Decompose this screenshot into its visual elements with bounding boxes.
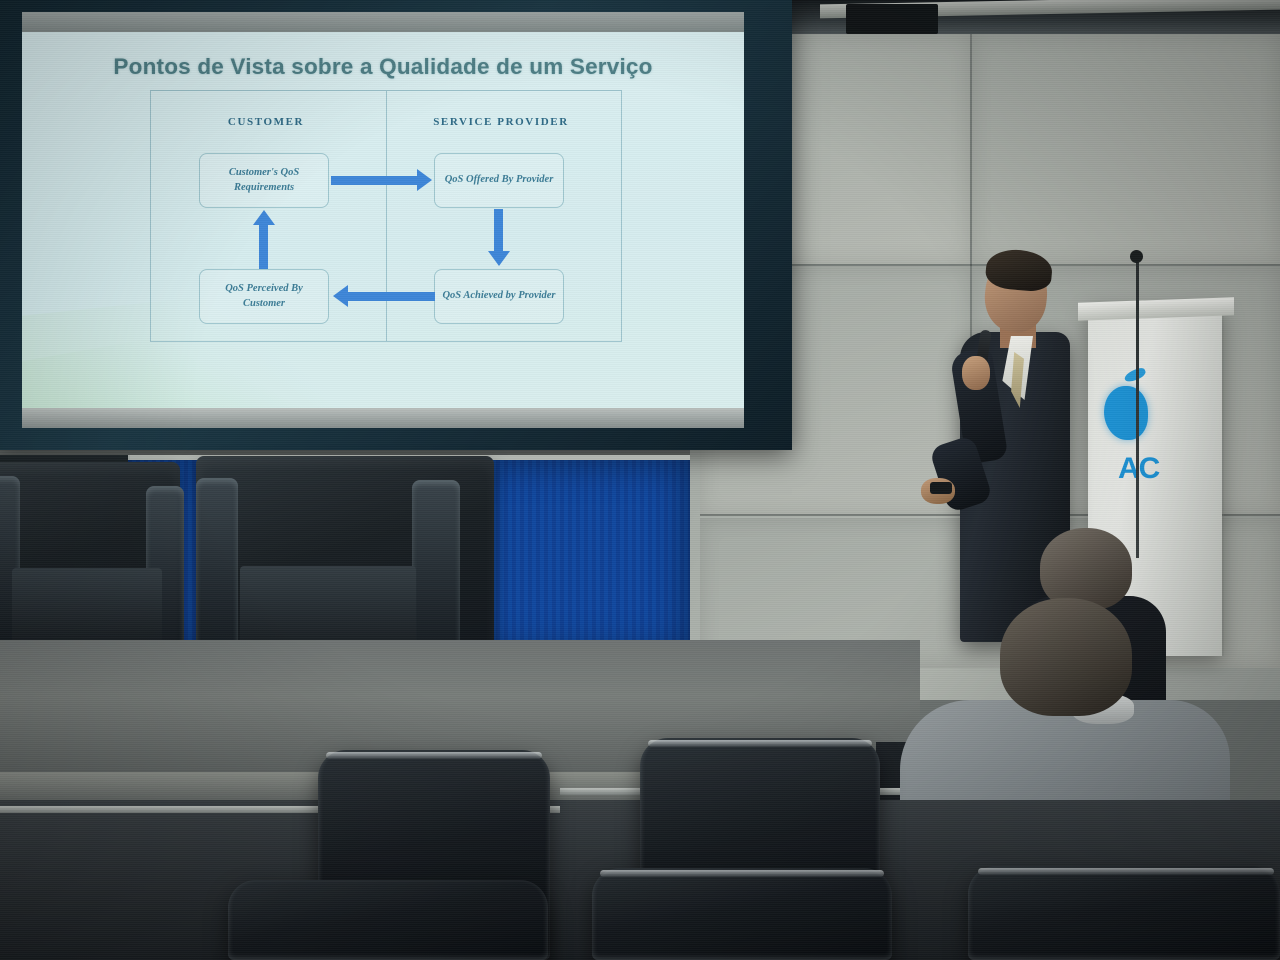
presentation-clicker-icon — [930, 482, 952, 494]
stage-armchair-right-arm-inner — [412, 480, 460, 658]
auditorium-seat-3 — [592, 868, 892, 960]
diagram-node-qos-achieved-by-provider: QoS Achieved by Provider — [434, 269, 564, 324]
diagram-node-qos-perceived-by-customer: QoS Perceived By Customer — [199, 269, 329, 324]
arrow-head-down — [488, 251, 510, 266]
arrow-perceived-to-requirements — [259, 225, 268, 269]
diagram-node-qos-offered-by-provider: QoS Offered By Provider — [434, 153, 564, 208]
ceiling-speaker-box — [846, 4, 938, 34]
presentation-slide: Pontos de Vista sobre a Qualidade de um … — [22, 32, 744, 410]
screen-bottom-bar — [22, 408, 744, 428]
auditorium-seat-5 — [968, 866, 1280, 960]
diagram-column-divider — [386, 91, 387, 341]
auditorium-seat-5-rim — [978, 868, 1274, 875]
arrow-head-right-top — [417, 169, 432, 191]
microphone-stand — [1136, 258, 1139, 558]
audience-member-front-head — [1000, 598, 1132, 716]
auditorium-seat-1-rim — [326, 752, 542, 759]
stage-armchair-right-arm-outer — [196, 478, 238, 658]
arrow-requirements-to-offered — [331, 176, 419, 185]
auditorium-seat-4 — [228, 880, 548, 960]
column-heading-service-provider: SERVICE PROVIDER — [396, 115, 606, 130]
arrow-head-up — [253, 210, 275, 225]
projection-screen-frame: Pontos de Vista sobre a Qualidade de um … — [0, 0, 792, 450]
qos-viewpoints-diagram: CUSTOMER SERVICE PROVIDER Customer's QoS… — [150, 90, 622, 342]
diagram-node-customer-qos-requirements: Customer's QoS Requirements — [199, 153, 329, 208]
column-heading-customer: CUSTOMER — [161, 115, 371, 130]
podium-logo-droplet-icon — [1104, 386, 1148, 440]
arrow-achieved-to-perceived — [347, 292, 435, 301]
microphone-head-icon — [1130, 250, 1143, 263]
auditorium-seat-2-rim — [648, 740, 872, 747]
slide-title: Pontos de Vista sobre a Qualidade de um … — [22, 54, 744, 80]
wall-panel-2 — [972, 34, 1280, 264]
arrow-offered-to-achieved — [494, 209, 503, 253]
speaker-right-hand — [962, 356, 990, 390]
auditorium-seat-3-rim — [600, 870, 884, 877]
presentation-photo-scene: Pontos de Vista sobre a Qualidade de um … — [0, 0, 1280, 960]
arrow-head-left-bottom — [333, 285, 348, 307]
screen-valance — [22, 12, 744, 34]
